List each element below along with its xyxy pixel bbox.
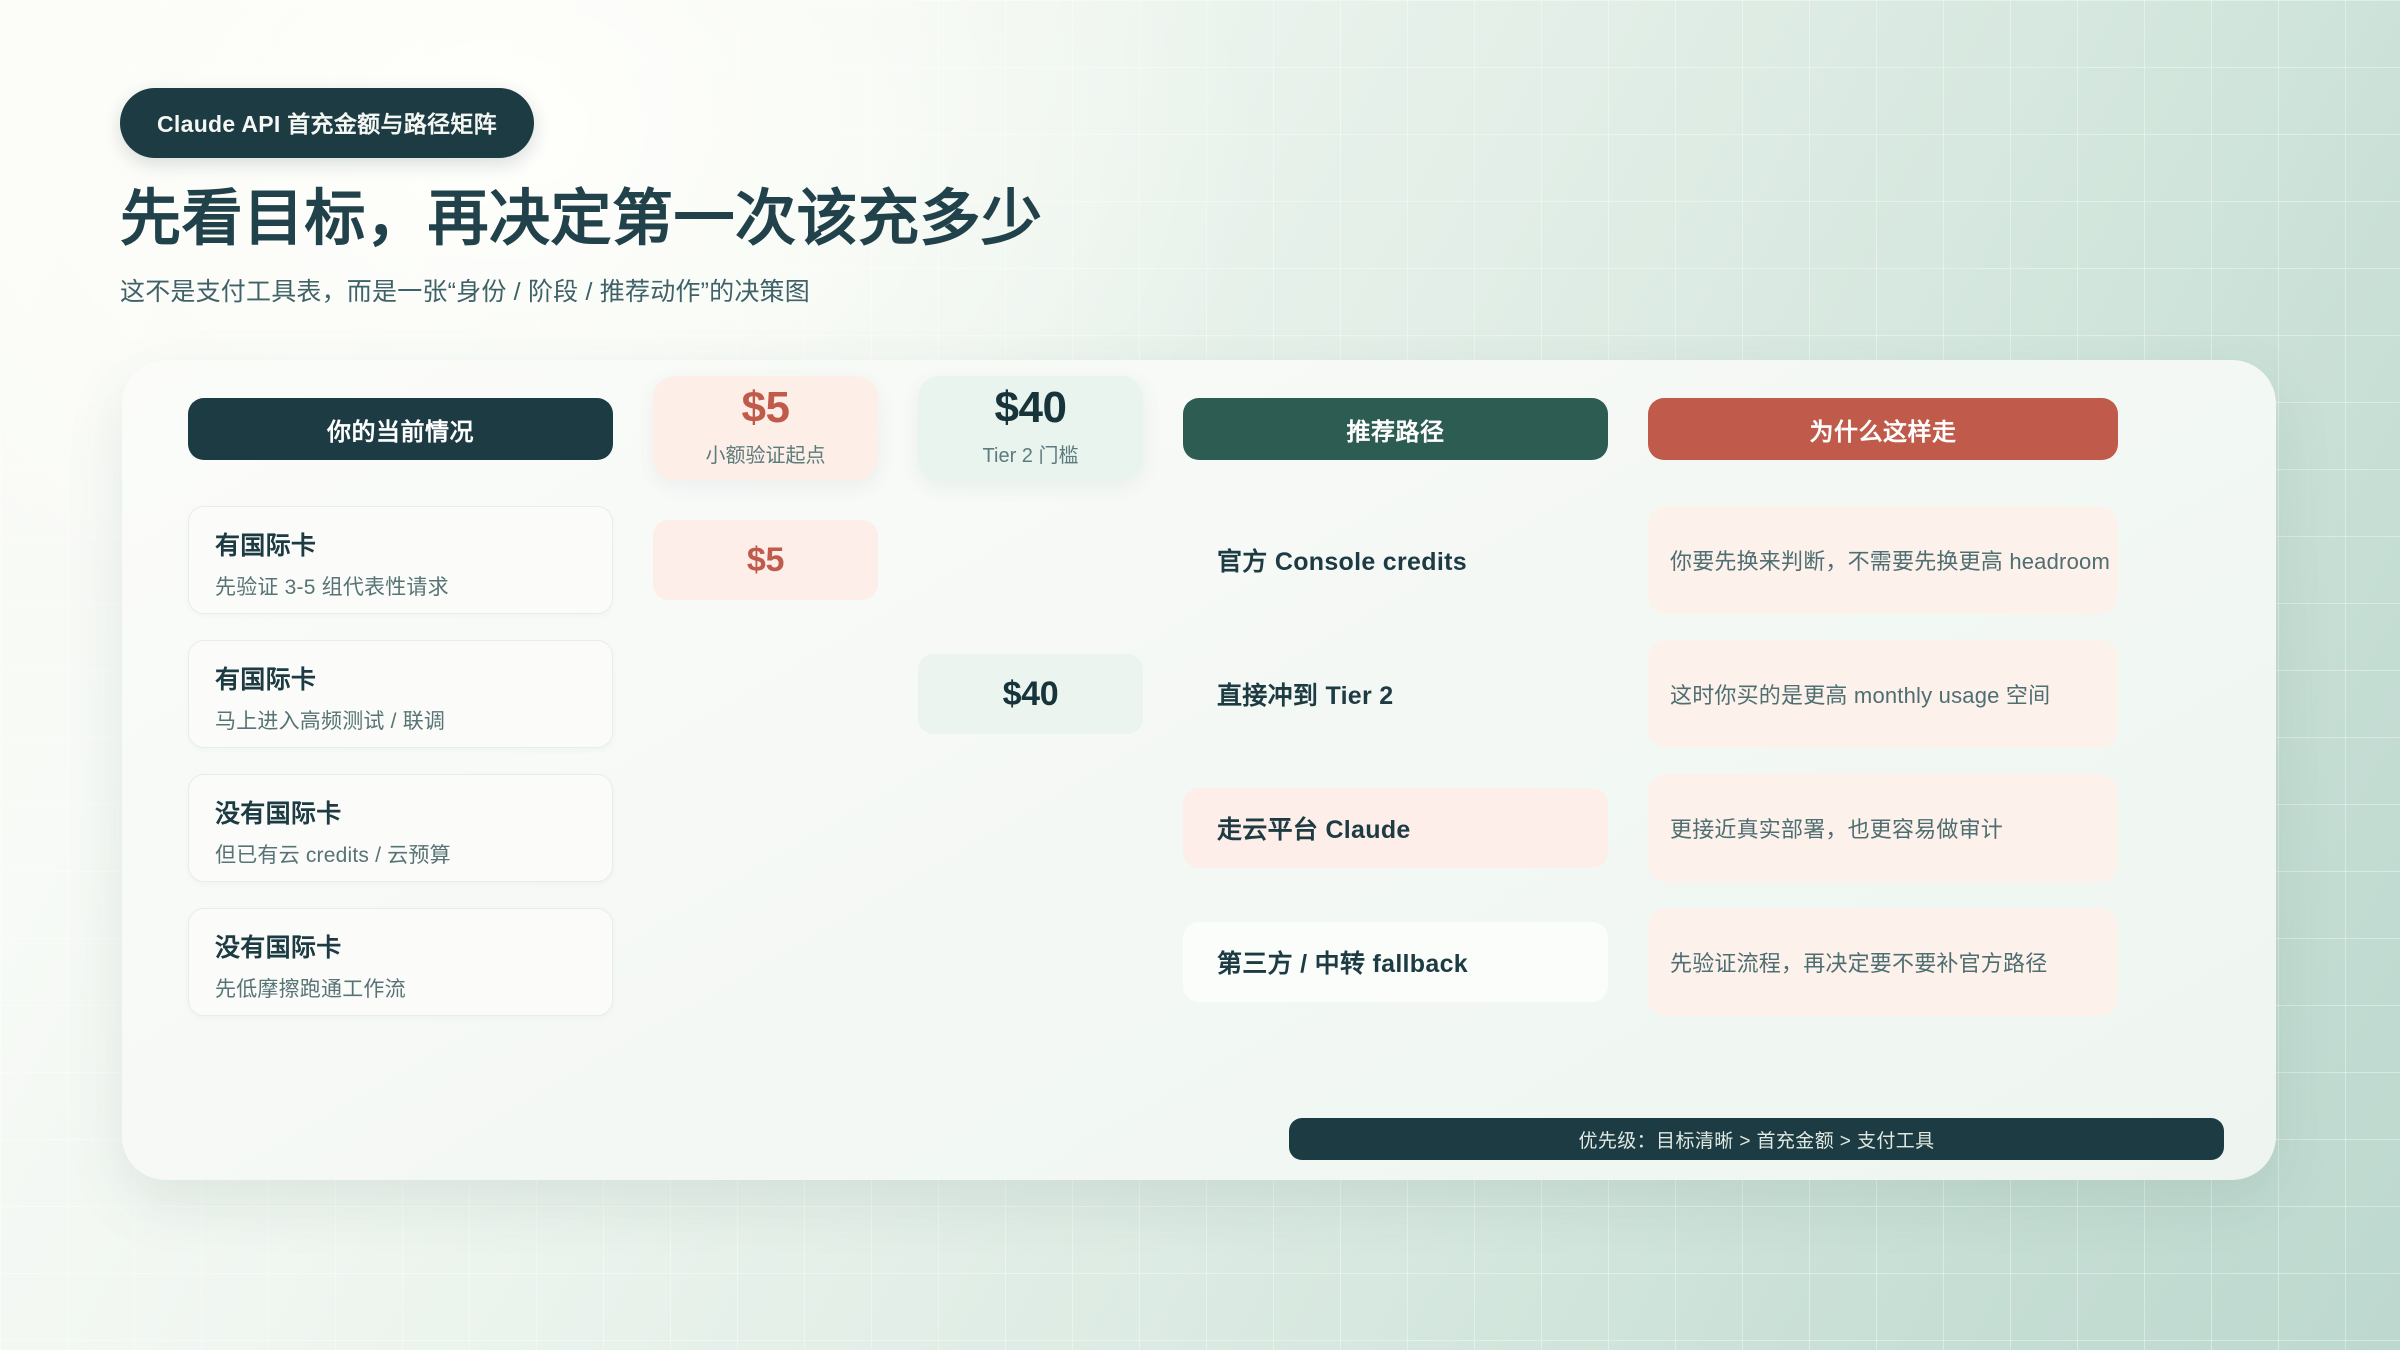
amount-small-cell <box>653 788 878 868</box>
column-header-amount-tier2: $40 Tier 2 门槛 <box>918 376 1143 480</box>
situation-subtitle: 马上进入高频测试 / 联调 <box>215 705 586 735</box>
amount-small-cell <box>653 654 878 734</box>
row-spacer <box>1183 748 1608 774</box>
amount-small-cell: $5 <box>653 520 878 600</box>
row-spacer <box>188 882 613 908</box>
table-row[interactable]: 没有国际卡 但已有云 credits / 云预算 <box>188 774 613 882</box>
row-spacer <box>188 614 613 640</box>
path-cell[interactable]: 走云平台 Claude <box>1183 788 1608 868</box>
column-header-situation: 你的当前情况 <box>188 398 613 460</box>
situation-title: 有国际卡 <box>215 660 586 696</box>
situation-title: 有国际卡 <box>215 526 586 562</box>
situation-title: 没有国际卡 <box>215 928 586 964</box>
page-header: Claude API 首充金额与路径矩阵 先看目标，再决定第一次该充多少 这不是… <box>120 88 1043 308</box>
badge-label: Claude API 首充金额与路径矩阵 <box>120 88 534 158</box>
path-cell[interactable]: 官方 Console credits <box>1183 520 1608 600</box>
situation-subtitle: 先验证 3-5 组代表性请求 <box>215 571 586 601</box>
row-spacer <box>1648 748 2118 774</box>
column-header-amount-small: $5 小额验证起点 <box>653 376 878 480</box>
row-spacer <box>188 748 613 774</box>
page-subtitle: 这不是支付工具表，而是一张“身份 / 阶段 / 推荐动作”的决策图 <box>120 272 1043 308</box>
amount-small-cell <box>653 922 878 1002</box>
amount-tier2-cell <box>918 788 1143 868</box>
column-header-why: 为什么这样走 <box>1648 398 2118 460</box>
amount-tier2-value: $40 <box>995 386 1067 430</box>
situation-subtitle: 先低摩擦跑通工作流 <box>215 973 586 1003</box>
amount-tier2-cell <box>918 922 1143 1002</box>
row-spacer <box>918 614 1143 640</box>
situation-subtitle: 但已有云 credits / 云预算 <box>215 839 586 869</box>
row-spacer <box>918 882 1143 908</box>
row-spacer <box>653 480 878 506</box>
path-cell[interactable]: 第三方 / 中转 fallback <box>1183 922 1608 1002</box>
priority-footer-bar: 优先级：目标清晰 > 首充金额 > 支付工具 <box>1289 1118 2224 1160</box>
table-row[interactable]: 有国际卡 马上进入高频测试 / 联调 <box>188 640 613 748</box>
row-spacer <box>653 748 878 774</box>
row-spacer <box>1183 614 1608 640</box>
table-row[interactable]: 有国际卡 先验证 3-5 组代表性请求 <box>188 506 613 614</box>
row-spacer <box>918 480 1143 506</box>
column-header-path: 推荐路径 <box>1183 398 1608 460</box>
row-spacer <box>1648 882 2118 908</box>
row-spacer <box>1648 614 2118 640</box>
row-spacer <box>918 748 1143 774</box>
situation-title: 没有国际卡 <box>215 794 586 830</box>
why-cell: 先验证流程，再决定要不要补官方路径 <box>1648 908 2118 1016</box>
why-cell: 更接近真实部署，也更容易做审计 <box>1648 774 2118 882</box>
amount-tier2-cell: $40 <box>918 654 1143 734</box>
row-spacer <box>1648 480 2118 506</box>
why-cell: 你要先换来判断，不需要先换更高 headroom <box>1648 506 2118 614</box>
amount-small-value: $5 <box>742 386 790 430</box>
row-spacer <box>653 614 878 640</box>
row-spacer <box>1183 480 1608 506</box>
why-cell: 这时你买的是更高 monthly usage 空间 <box>1648 640 2118 748</box>
amount-tier2-caption: Tier 2 门槛 <box>983 439 1079 468</box>
table-row[interactable]: 没有国际卡 先低摩擦跑通工作流 <box>188 908 613 1016</box>
path-cell[interactable]: 直接冲到 Tier 2 <box>1183 654 1608 734</box>
amount-tier2-cell <box>918 520 1143 600</box>
page-title: 先看目标，再决定第一次该充多少 <box>120 184 1043 254</box>
amount-small-caption: 小额验证起点 <box>706 439 826 468</box>
row-spacer <box>1183 882 1608 908</box>
matrix-card: 你的当前情况 $5 小额验证起点 $40 Tier 2 门槛 推荐路径 为什么这… <box>122 360 2276 1180</box>
matrix-table: 你的当前情况 $5 小额验证起点 $40 Tier 2 门槛 推荐路径 为什么这… <box>122 360 2276 1180</box>
matrix-grid: 你的当前情况 $5 小额验证起点 $40 Tier 2 门槛 推荐路径 为什么这… <box>166 398 2232 1016</box>
row-spacer <box>653 882 878 908</box>
row-spacer <box>188 480 613 506</box>
